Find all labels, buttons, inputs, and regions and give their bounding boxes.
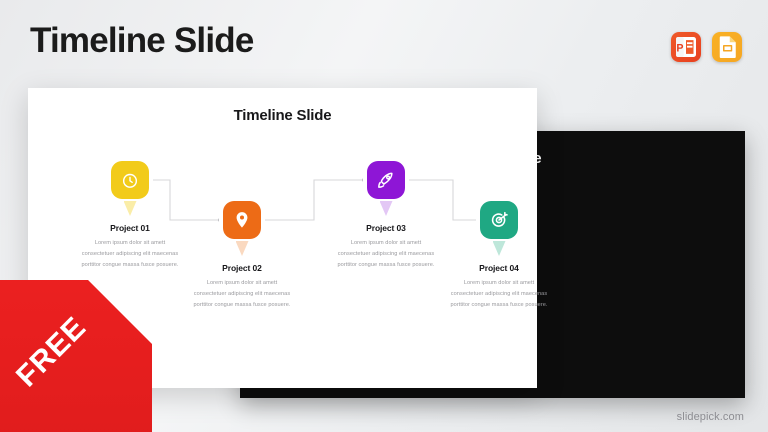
target-tile[interactable] [480,201,518,239]
stopwatch-tile[interactable] [111,161,149,199]
powerpoint-icon[interactable]: P [671,32,701,62]
node-body: Lorem ipsum dolor sit amett consectetuer… [321,238,451,271]
google-slides-icon[interactable] [712,32,742,62]
light-slide-heading: Timeline Slide [28,107,537,124]
stopwatch-icon [120,170,140,190]
node-project-04[interactable]: Project 04 Lorem ipsum dolor sit amett c… [434,201,564,311]
powerpoint-glyph: P [671,32,701,62]
map-pin-icon [232,210,252,230]
node-title: Project 03 [321,223,451,233]
target-icon [489,210,509,230]
app-format-icons: P [671,32,742,62]
rocket-icon [376,170,396,190]
node-project-03[interactable]: Project 03 Lorem ipsum dolor sit amett c… [321,161,451,271]
rocket-tile-tail [380,201,393,216]
node-body: Lorem ipsum dolor sit amett consectetuer… [65,238,195,271]
node-body: Lorem ipsum dolor sit amett consectetuer… [177,278,307,311]
node-title: Project 02 [177,263,307,273]
node-project-02[interactable]: Project 02 Lorem ipsum dolor sit amett c… [177,201,307,311]
site-watermark: slidepick.com [677,411,744,423]
node-project-01[interactable]: Project 01 Lorem ipsum dolor sit amett c… [65,161,195,271]
page-title: Timeline Slide [30,23,254,58]
free-ribbon: FREE [0,280,152,432]
rocket-tile[interactable] [367,161,405,199]
map-pin-tile[interactable] [223,201,261,239]
target-tile-tail [493,241,506,256]
google-slides-glyph [712,32,742,62]
node-body: Lorem ipsum dolor sit amett consectetuer… [434,278,564,311]
stopwatch-tile-tail [124,201,137,216]
map-pin-tile-tail [236,241,249,256]
node-title: Project 04 [434,263,564,273]
screenshot-stage: Timeline Slide Project 03 Lorem ipsum do… [0,0,768,432]
svg-text:P: P [676,43,683,55]
node-title: Project 01 [65,223,195,233]
